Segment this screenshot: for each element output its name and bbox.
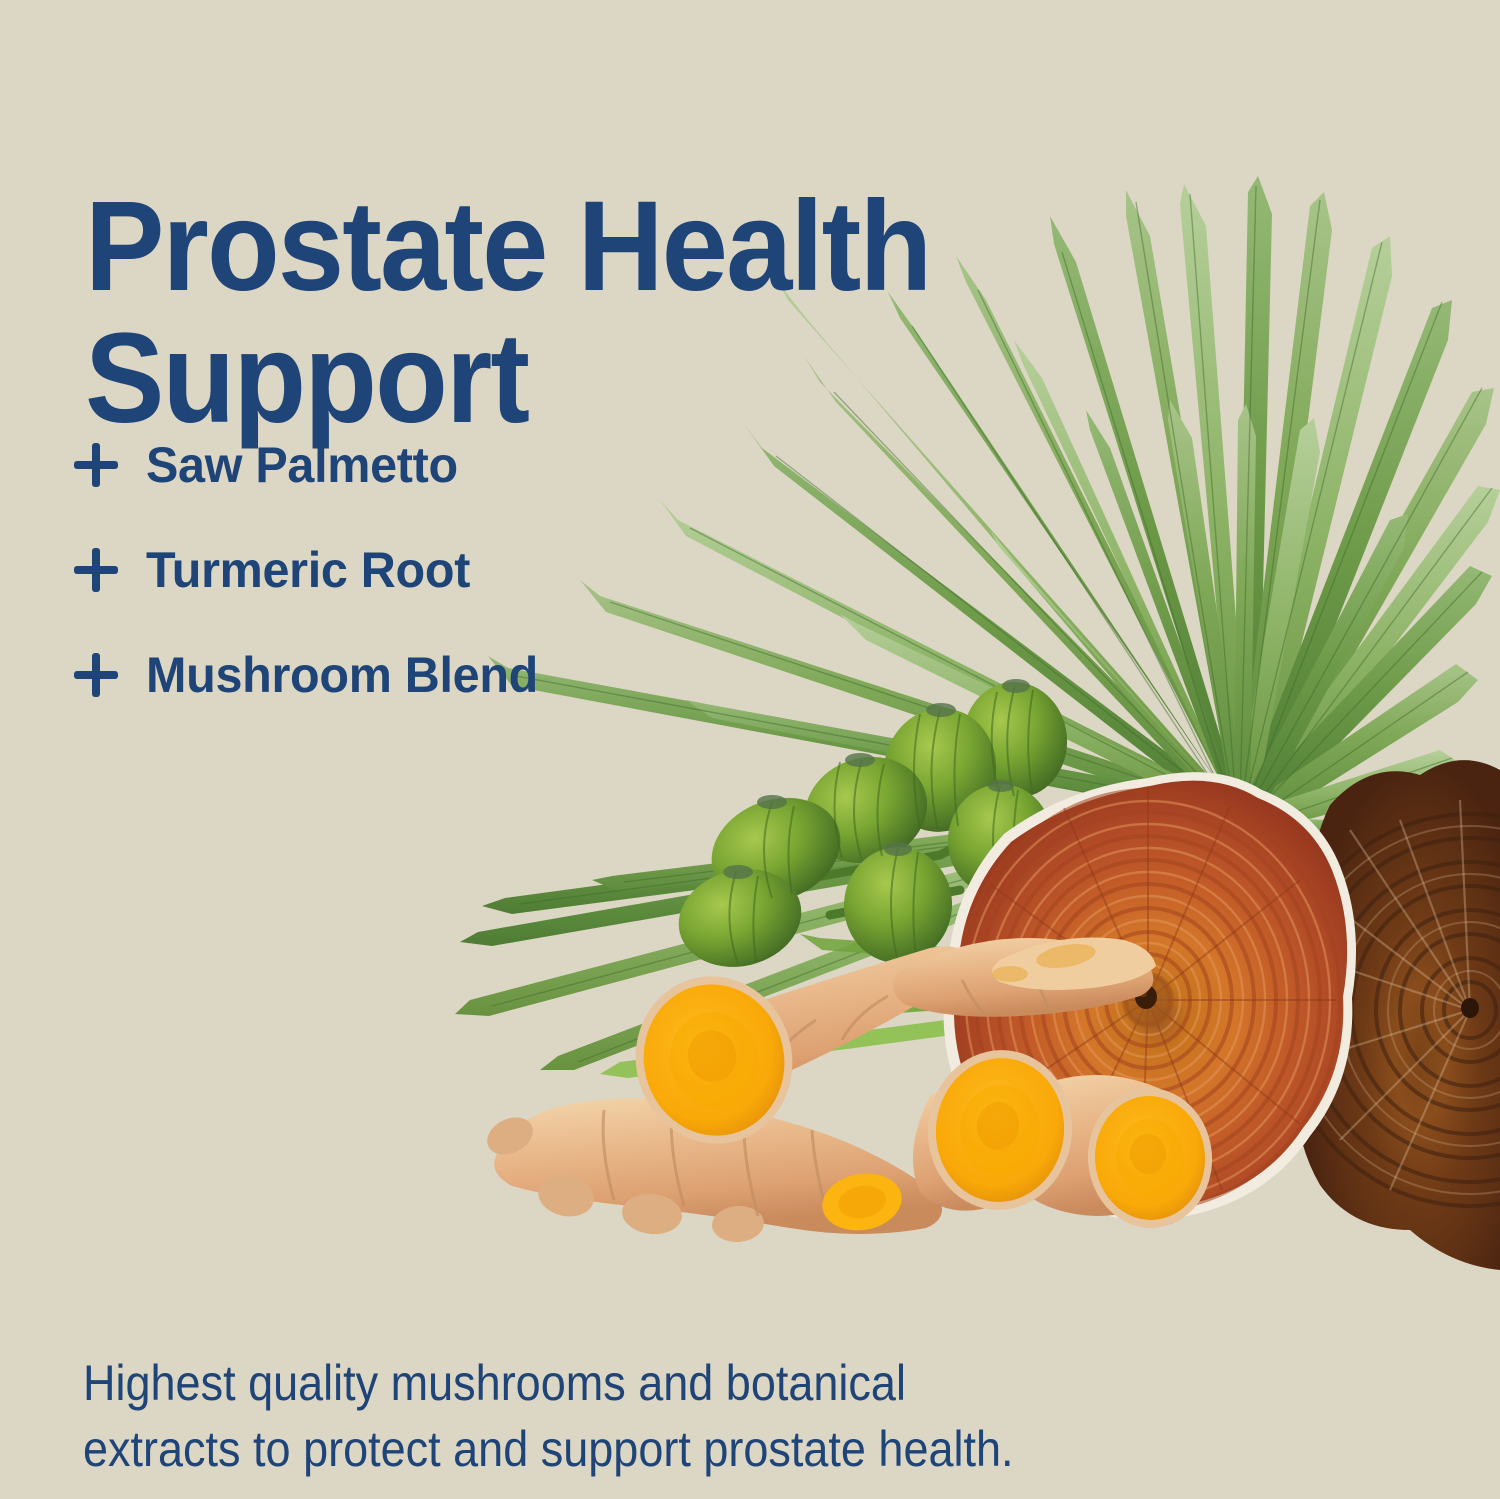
- product-feature-image: Prostate Health Support Saw Palmetto Tur…: [0, 0, 1500, 1499]
- benefit-label: Turmeric Root: [146, 541, 470, 599]
- turmeric-cut-face-left: [618, 960, 810, 1161]
- page-title: Prostate Health Support: [85, 181, 969, 445]
- list-item: Saw Palmetto: [72, 412, 550, 517]
- reishi-mushroom-front: [944, 772, 1356, 1220]
- list-item: Mushroom Blend: [72, 622, 550, 727]
- reishi-mushroom-back: [1280, 760, 1500, 1270]
- turmeric-cut-face-small: [818, 1167, 907, 1236]
- turmeric-cut-face-right: [1083, 1084, 1216, 1232]
- plus-icon: [72, 546, 120, 594]
- turmeric-cut-face-middle: [920, 1043, 1080, 1217]
- plus-icon: [72, 651, 120, 699]
- benefit-label: Saw Palmetto: [146, 436, 458, 494]
- plus-icon: [72, 441, 120, 489]
- turmeric-root: [481, 938, 1217, 1244]
- benefit-label: Mushroom Blend: [146, 646, 538, 704]
- saw-palmetto-berries: [668, 677, 1073, 980]
- caption-text: Highest quality mushrooms and botanical …: [83, 1350, 1145, 1482]
- benefits-list: Saw Palmetto Turmeric Root Mushroom Blen…: [72, 412, 550, 727]
- list-item: Turmeric Root: [72, 517, 550, 622]
